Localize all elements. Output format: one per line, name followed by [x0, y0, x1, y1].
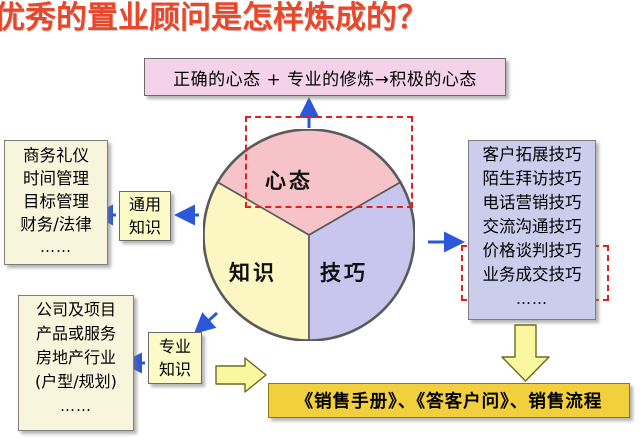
- slide-canvas: 优秀的置业顾问是怎样炼成的？ 正确的心态 + 专业的修炼→积极的心态: [0, 0, 640, 438]
- list-item: 价格谈判技巧: [483, 239, 582, 263]
- top-statement-box: 正确的心态 + 专业的修炼→积极的心态: [144, 58, 506, 96]
- list-item: 业务成交技巧: [483, 263, 582, 287]
- page-title: 优秀的置业顾问是怎样炼成的？: [0, 0, 464, 38]
- list-item: 目标管理: [23, 190, 89, 213]
- result-documents-box: 《销售手册》、《答客户问》、销售流程: [268, 383, 630, 418]
- list-item: 时间管理: [23, 167, 89, 190]
- top-statement-text: 正确的心态 + 专业的修炼→积极的心态: [173, 65, 477, 90]
- general-knowledge-list: 商务礼仪 时间管理 目标管理 财务/法律 ……: [4, 140, 108, 265]
- list-item: 电话营销技巧: [483, 191, 582, 215]
- highlight-mindset-dashed-box: [245, 116, 413, 208]
- list-item: 商务礼仪: [23, 144, 89, 167]
- list-ellipsis: ……: [40, 236, 72, 259]
- list-item: 交流沟通技巧: [483, 215, 582, 239]
- yellow-down-arrow: [502, 325, 549, 381]
- sector-label-skills: 技巧: [320, 257, 368, 287]
- badge-line-2: 知识: [159, 358, 191, 381]
- list-item: 产品或服务: [36, 322, 116, 346]
- badge-line-2: 知识: [129, 216, 161, 239]
- list-item: 陌生拜访技巧: [483, 167, 582, 191]
- professional-knowledge-list: 公司及项目 产品或服务 房地产行业 (户型/规划) ……: [18, 295, 134, 431]
- result-text: 《销售手册》、《答客户问》、销售流程: [296, 388, 603, 413]
- list-item: 财务/法律: [20, 213, 92, 236]
- list-item: 公司及项目: [36, 298, 116, 322]
- sector-label-knowledge: 知识: [229, 257, 277, 287]
- yellow-right-arrow: [216, 358, 266, 392]
- list-item: 房地产行业: [36, 346, 116, 370]
- list-ellipsis: ……: [60, 394, 92, 418]
- badge-line-1: 通用: [129, 193, 161, 216]
- list-ellipsis: ……: [516, 287, 548, 311]
- professional-knowledge-badge: 专业 知识: [148, 332, 202, 384]
- list-item: 客户拓展技巧: [483, 143, 582, 167]
- skills-list: 客户拓展技巧 陌生拜访技巧 电话营销技巧 交流沟通技巧 价格谈判技巧 业务成交技…: [468, 140, 596, 320]
- badge-line-1: 专业: [159, 335, 191, 358]
- list-item: (户型/规划): [35, 370, 117, 394]
- general-knowledge-badge: 通用 知识: [119, 191, 171, 241]
